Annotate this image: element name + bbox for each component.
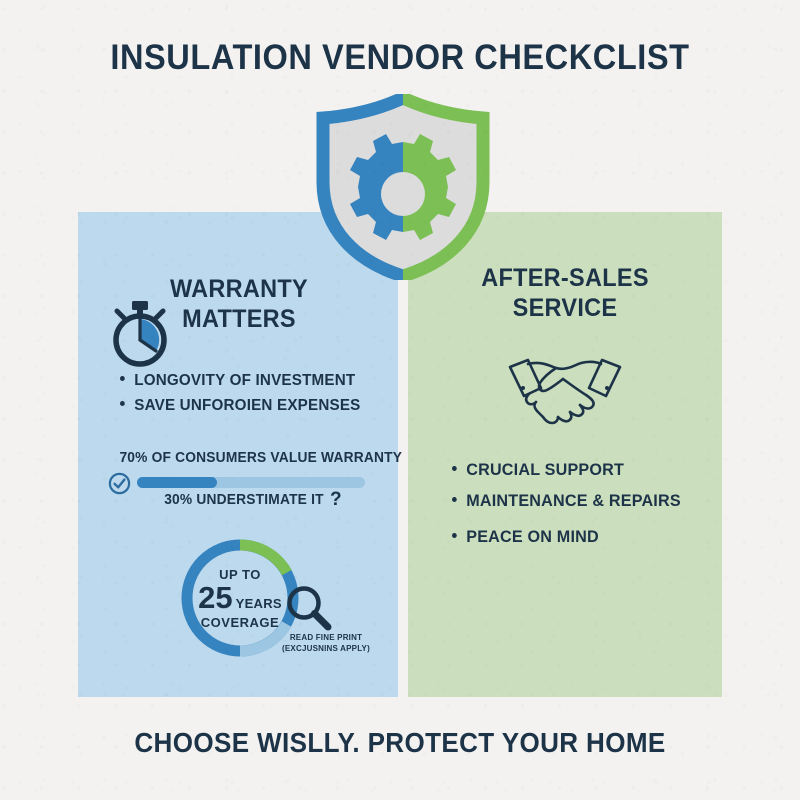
bullet-dot-icon [452, 497, 457, 502]
list-item-label: PEACE ON MIND [466, 527, 599, 547]
panel-after-sales-heading-line2: SERVICE [417, 294, 712, 324]
stat-top-label: 70% OF CONSUMERS VALUE WARRANTY [119, 450, 402, 466]
donut-coverage-label: COVERAGE [201, 615, 279, 630]
fine-print-line2: (EXCJUSNINS APPLY) [276, 644, 376, 655]
magnifier-icon [284, 583, 334, 633]
stat-bottom-label: 30% UNDERSTIMATE IT [164, 492, 323, 508]
list-item: PEACE ON MIND [452, 527, 681, 547]
warranty-progress-bar [113, 475, 365, 489]
bullet-dot-icon [120, 376, 125, 381]
fine-print-line1: READ FINE PRINT [276, 633, 376, 644]
page-title: INSULATION VENDOR CHECKCLIST [28, 38, 772, 78]
list-item-label: CRUCIAL SUPPORT [466, 460, 624, 480]
list-item-label: SAVE UNFOROIEN EXPENSES [134, 397, 360, 415]
handshake-icon [500, 355, 630, 427]
question-mark-label: ? [330, 489, 342, 511]
list-item: CRUCIAL SUPPORT [452, 460, 681, 480]
bullet-dot-icon [452, 466, 457, 471]
warranty-bullet-list: LONGOVITY OF INVESTMENT SAVE UNFOROIEN E… [120, 372, 360, 422]
after-sales-bullet-list: CRUCIAL SUPPORT MAINTENANCE & REPAIRS PE… [452, 460, 681, 558]
list-item-label: MAINTENANCE & REPAIRS [466, 491, 681, 511]
fine-print-note: READ FINE PRINT (EXCJUSNINS APPLY) [276, 633, 376, 655]
footer-tagline: CHOOSE WISLLY. PROTECT YOUR HOME [28, 727, 772, 759]
donut-number: 25 [198, 582, 232, 613]
list-item: MAINTENANCE & REPAIRS [452, 491, 681, 511]
stopwatch-icon [104, 299, 176, 369]
list-item-label: LONGOVITY OF INVESTMENT [134, 372, 355, 390]
list-item: LONGOVITY OF INVESTMENT [120, 372, 360, 390]
donut-years-label: YEARS [236, 596, 282, 611]
progress-fill [137, 477, 217, 488]
bullet-dot-icon [120, 401, 125, 406]
panel-after-sales: AFTER-SALES SERVICE [408, 212, 722, 697]
shield-gear-logo [313, 94, 493, 280]
bullet-dot-icon [452, 533, 457, 538]
list-item: SAVE UNFOROIEN EXPENSES [120, 397, 360, 415]
